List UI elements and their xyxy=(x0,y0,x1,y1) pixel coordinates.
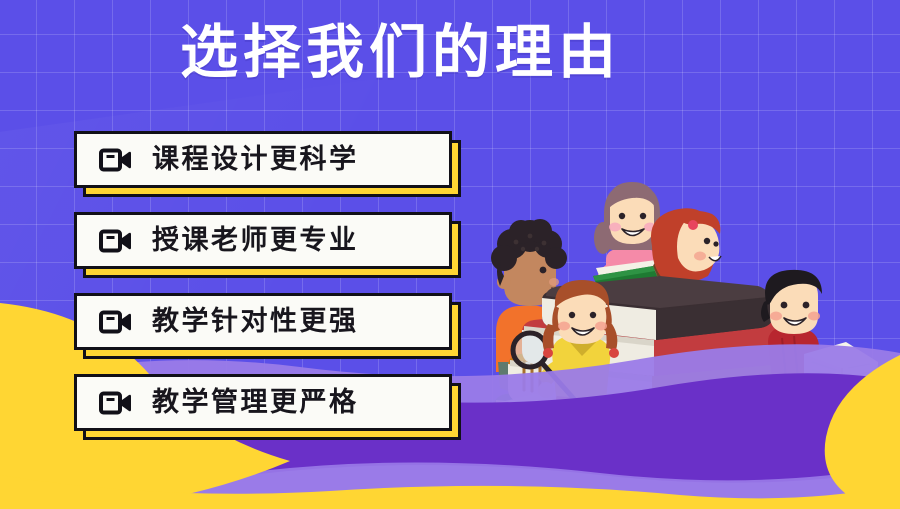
video-camera-icon xyxy=(99,229,132,253)
feature-item-1[interactable]: 课程设计更科学 xyxy=(74,131,452,188)
video-camera-icon xyxy=(99,148,132,172)
feature-item-2[interactable]: 授课老师更专业 xyxy=(74,212,452,269)
feature-label: 教学管理更严格 xyxy=(152,389,359,416)
video-camera-icon xyxy=(99,310,132,334)
feature-label: 授课老师更专业 xyxy=(152,227,359,254)
page-title: 选择我们的理由 xyxy=(180,21,621,85)
feature-card[interactable]: 授课老师更专业 xyxy=(74,212,452,269)
feature-card[interactable]: 教学针对性更强 xyxy=(74,293,452,350)
feature-card[interactable]: 教学管理更严格 xyxy=(74,374,452,431)
feature-label: 课程设计更科学 xyxy=(152,146,359,173)
feature-list: 课程设计更科学 授课老师更专业 xyxy=(74,131,452,455)
feature-item-3[interactable]: 教学针对性更强 xyxy=(74,293,452,350)
feature-card[interactable]: 课程设计更科学 xyxy=(74,131,452,188)
feature-item-4[interactable]: 教学管理更严格 xyxy=(74,374,452,431)
video-camera-icon xyxy=(99,391,132,415)
feature-label: 教学针对性更强 xyxy=(152,308,359,335)
poster-canvas: 选择我们的理由 课程设计更科学 xyxy=(0,0,900,509)
